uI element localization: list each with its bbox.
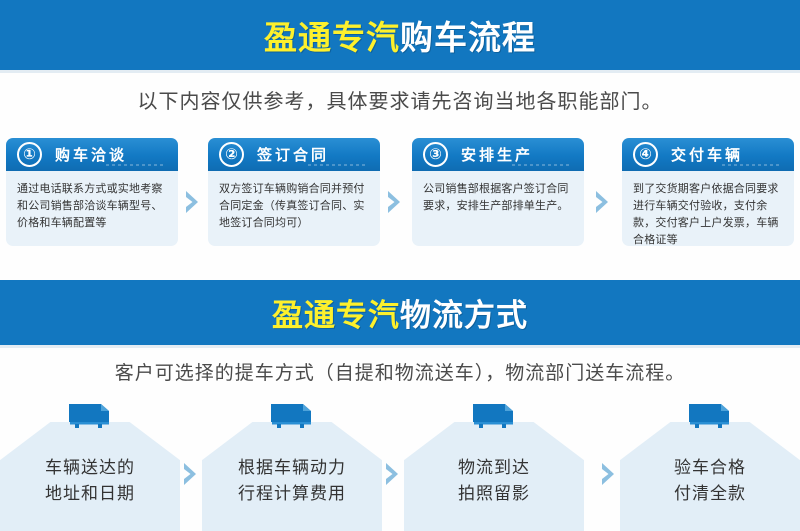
logistics-card-2-text: 根据车辆动力 行程计算费用 [202, 455, 382, 508]
truck-icon [267, 400, 317, 430]
logistics-card-2-line2: 行程计算费用 [202, 481, 382, 507]
logistics-card-2-line1: 根据车辆动力 [202, 455, 382, 481]
step-title-2: 签订合同 [257, 144, 329, 165]
step-number-3: ③ [423, 142, 448, 167]
step-body-2: 双方签订车辆购销合同并预付合同定金（传真签订合同、实地签订合同均可） [208, 171, 380, 246]
step-card-4-header: ④ 交付车辆 [622, 138, 794, 171]
logistics-card-3-text: 物流到达 拍照留影 [404, 455, 584, 508]
truck-icon [469, 400, 519, 430]
logistics-banner-brand: 盈通专汽 [272, 290, 400, 335]
step-title-4: 交付车辆 [671, 144, 743, 165]
purchase-banner: 盈通专汽 购车流程 [0, 0, 800, 70]
infographic-page: 盈通专汽 购车流程 以下内容仅供参考，具体要求请先咨询当地各职能部门。 ① 购车… [0, 0, 800, 531]
step-title-3: 安排生产 [461, 144, 533, 165]
logistics-banner-title: 物流方式 [400, 290, 528, 335]
step-number-4: ④ [633, 142, 658, 167]
step-title-1: 购车洽谈 [55, 144, 127, 165]
logistics-card-1: 车辆送达的 地址和日期 [0, 400, 180, 531]
logistics-card-4: 验车合格 付清全款 [620, 400, 800, 531]
chevron-right-icon [384, 462, 401, 486]
logistics-subtitle: 客户可选择的提车方式（自提和物流送车），物流部门送车流程。 [0, 358, 800, 385]
step-card-2-header: ② 签订合同 [208, 138, 380, 171]
step-body-1: 通过电话联系方式或实地考察和公司销售部洽谈车辆型号、价格和车辆配置等 [6, 171, 178, 246]
step-number-1: ① [17, 142, 42, 167]
purchase-banner-underline [0, 70, 800, 73]
chevron-right-icon [182, 462, 199, 486]
step-card-3-header: ③ 安排生产 [412, 138, 584, 171]
logistics-banner: 盈通专汽 物流方式 [0, 280, 800, 345]
logistics-card-3-line1: 物流到达 [404, 455, 584, 481]
purchase-banner-title: 购车流程 [400, 11, 536, 59]
purchase-banner-inner: 盈通专汽 购车流程 [264, 11, 536, 59]
purchase-subtitle: 以下内容仅供参考，具体要求请先咨询当地各职能部门。 [0, 85, 800, 114]
step-card-2: ② 签订合同 双方签订车辆购销合同并预付合同定金（传真签订合同、实地签订合同均可… [208, 138, 380, 246]
logistics-card-3-line2: 拍照留影 [404, 481, 584, 507]
logistics-banner-inner: 盈通专汽 物流方式 [272, 290, 528, 335]
step-card-3: ③ 安排生产 公司销售部根据客户签订合同要求，安排生产部排单生产。 [412, 138, 584, 246]
step-card-4: ④ 交付车辆 到了交货期客户依据合同要求进行车辆交付验收，支付余款，交付客户上户… [622, 138, 794, 246]
logistics-card-4-text: 验车合格 付清全款 [620, 455, 800, 508]
truck-icon [65, 400, 115, 430]
logistics-card-3: 物流到达 拍照留影 [404, 400, 584, 531]
step-card-1-header: ① 购车洽谈 [6, 138, 178, 171]
logistics-card-1-line2: 地址和日期 [0, 481, 180, 507]
chevron-right-icon [600, 462, 617, 486]
logistics-card-1-text: 车辆送达的 地址和日期 [0, 455, 180, 508]
step-card-1: ① 购车洽谈 通过电话联系方式或实地考察和公司销售部洽谈车辆型号、价格和车辆配置… [6, 138, 178, 246]
chevron-right-icon [594, 190, 611, 214]
step-number-2: ② [219, 142, 244, 167]
logistics-card-1-line1: 车辆送达的 [0, 455, 180, 481]
step-body-4: 到了交货期客户依据合同要求进行车辆交付验收，支付余款，交付客户上户发票，车辆合格… [622, 171, 794, 246]
purchase-banner-brand: 盈通专汽 [264, 11, 400, 59]
logistics-card-4-line2: 付清全款 [620, 481, 800, 507]
chevron-right-icon [184, 190, 201, 214]
step-body-3: 公司销售部根据客户签订合同要求，安排生产部排单生产。 [412, 171, 584, 246]
logistics-card-4-line1: 验车合格 [620, 455, 800, 481]
truck-icon [685, 400, 735, 430]
logistics-card-2: 根据车辆动力 行程计算费用 [202, 400, 382, 531]
logistics-banner-underline [0, 345, 800, 348]
chevron-right-icon [386, 190, 403, 214]
